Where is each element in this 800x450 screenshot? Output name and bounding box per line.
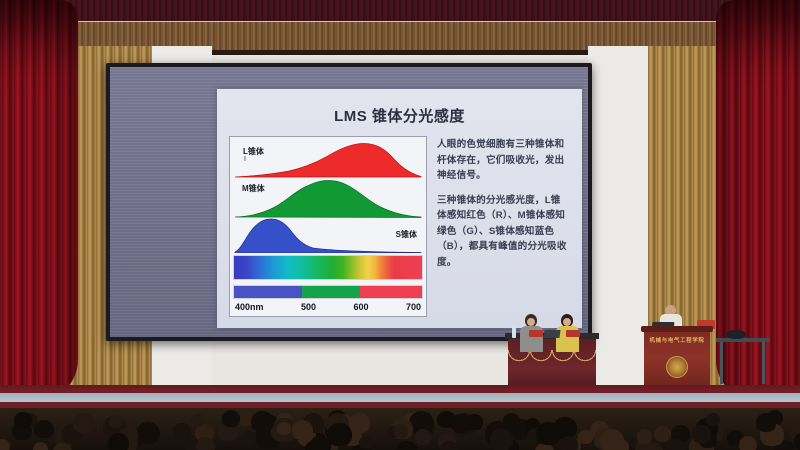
axis-tick-400: 400nm bbox=[235, 302, 264, 312]
audience-head bbox=[277, 422, 291, 435]
red-segment bbox=[360, 286, 422, 298]
audience-head bbox=[503, 413, 520, 430]
audience-head bbox=[637, 429, 652, 443]
audience-head bbox=[490, 428, 514, 450]
audience-head bbox=[706, 413, 720, 426]
s-cone-curve bbox=[235, 219, 421, 253]
institution-emblem-icon bbox=[666, 356, 688, 378]
presentation-slide: LMS 锥体分光感度 bbox=[217, 89, 582, 328]
audience-head bbox=[560, 436, 579, 450]
slide-title: LMS 锥体分光感度 bbox=[229, 105, 570, 126]
podium-institution-text: 机械与电气工程学院 bbox=[644, 336, 710, 344]
s-cone-label: S锥体 bbox=[396, 229, 417, 240]
cone-response-curves bbox=[233, 141, 423, 253]
red-curtain-left bbox=[0, 0, 78, 400]
name-placard-right bbox=[566, 330, 580, 337]
slide-text-column: 人眼的色觉细胞有三种锥体和杆体存在，它们吸收光，发出神经信号。 三种锥体的分光感… bbox=[437, 136, 570, 317]
audience-head bbox=[196, 437, 215, 450]
cone-curves-area: L锥体 I M锥体 S锥体 bbox=[233, 141, 423, 253]
audience-head bbox=[191, 414, 204, 427]
audience-head bbox=[578, 430, 593, 444]
audience-head bbox=[396, 441, 418, 450]
audience-head bbox=[359, 436, 373, 450]
audience-head bbox=[437, 411, 456, 429]
audience-head bbox=[440, 441, 459, 450]
rgb-segment-bar bbox=[233, 285, 423, 299]
axis-tick-500: 500 bbox=[301, 302, 316, 312]
audience-head bbox=[136, 422, 160, 445]
l-cone-label: L锥体 bbox=[243, 146, 264, 157]
audience-head bbox=[222, 410, 240, 427]
audience-head bbox=[327, 423, 351, 446]
audience-head bbox=[109, 415, 123, 428]
audience-head bbox=[739, 436, 757, 450]
podium-top-edge bbox=[641, 326, 713, 332]
blue-segment bbox=[234, 286, 302, 298]
audience-head bbox=[292, 420, 313, 440]
axis-tick-700: 700 bbox=[406, 302, 421, 312]
projection-screen-frame: LMS 锥体分光感度 bbox=[106, 63, 592, 341]
face bbox=[527, 318, 535, 326]
face bbox=[563, 318, 571, 326]
audience-heads-row bbox=[0, 408, 800, 450]
audience-head bbox=[14, 412, 31, 428]
green-segment bbox=[302, 286, 360, 298]
l-cone-axis-tick: I bbox=[244, 156, 246, 163]
audience-head bbox=[305, 441, 322, 450]
visible-spectrum-bar bbox=[233, 255, 423, 280]
audience-head bbox=[756, 413, 776, 432]
audience-area bbox=[0, 408, 800, 450]
m-cone-label: M锥体 bbox=[242, 183, 265, 194]
projection-screen-surface: LMS 锥体分光感度 bbox=[110, 67, 588, 337]
wall-panel-right bbox=[588, 46, 648, 391]
audience-head bbox=[415, 429, 431, 444]
audience-head bbox=[33, 442, 48, 450]
audience-head bbox=[251, 411, 273, 432]
audience-head bbox=[173, 423, 191, 440]
podium: 机械与电气工程学院 bbox=[644, 330, 710, 392]
water-bottle bbox=[512, 326, 516, 338]
slide-paragraph-2: 三种锥体的分光感光度，L锥体感知红色（R）、M锥体感知绿色（G）、S锥体感知蓝色… bbox=[437, 193, 570, 271]
table-laptop bbox=[543, 330, 560, 338]
slide-body: L锥体 I M锥体 S锥体 400nm bbox=[229, 136, 570, 317]
audience-head bbox=[34, 420, 53, 438]
microphone-device bbox=[726, 330, 746, 339]
audience-head bbox=[0, 439, 10, 450]
wavelength-axis: 400nm 500 600 700 bbox=[233, 299, 423, 314]
lms-cone-sensitivity-chart: L锥体 I M锥体 S锥体 400nm bbox=[229, 136, 427, 317]
audience-head bbox=[243, 431, 256, 444]
name-placard-left bbox=[529, 330, 543, 337]
audience-head bbox=[394, 424, 408, 438]
table-leg-left bbox=[720, 342, 723, 384]
audience-head bbox=[73, 413, 94, 433]
axis-tick-600: 600 bbox=[353, 302, 368, 312]
lecture-hall-scene: LMS 锥体分光感度 bbox=[0, 0, 800, 450]
audience-head bbox=[654, 426, 671, 442]
slide-paragraph-1: 人眼的色觉细胞有三种锥体和杆体存在，它们吸收光，发出神经信号。 bbox=[437, 137, 570, 184]
audience-head bbox=[553, 417, 576, 439]
audience-head bbox=[600, 429, 624, 450]
side-equipment-table bbox=[716, 338, 770, 384]
table-leg-right bbox=[762, 342, 765, 384]
table-skirt-scallop-trim bbox=[508, 350, 596, 366]
audience-head bbox=[692, 425, 711, 443]
audience-head bbox=[108, 433, 129, 450]
red-valance bbox=[0, 0, 800, 22]
